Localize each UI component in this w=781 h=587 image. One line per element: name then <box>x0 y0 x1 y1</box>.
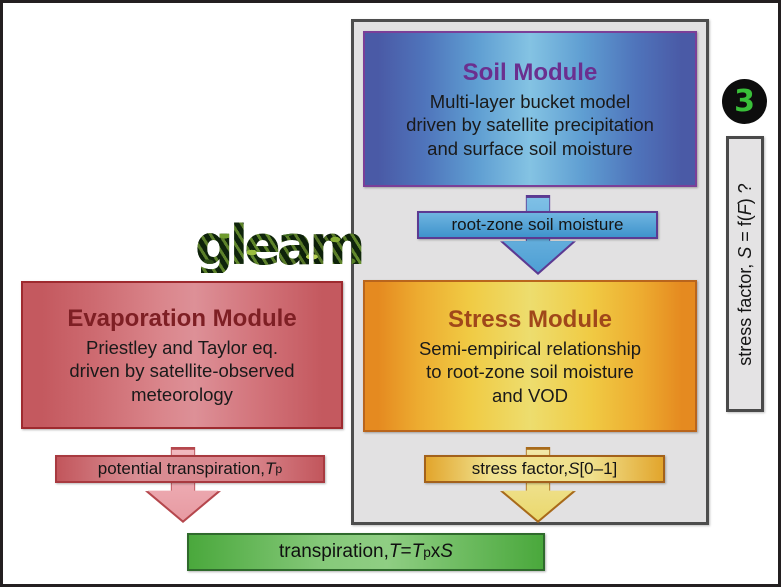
evaporation-module-line-1: Priestley and Taylor eq. <box>80 336 284 360</box>
stress-factor-label: stress factor, S [0–1] <box>424 455 665 483</box>
soil-module-line-3: and surface soil moisture <box>421 137 639 161</box>
potential-label-symbol: T <box>265 459 275 479</box>
badge-number: 3 <box>734 87 755 117</box>
evaporation-module-line-3: meteorology <box>125 383 239 407</box>
diagram-canvas: Soil Module Multi-layer bucket model dri… <box>0 0 781 587</box>
stress-module-box: Stress Module Semi-empirical relationshi… <box>363 280 697 432</box>
result-equals: = <box>400 541 411 563</box>
question-prefix: stress factor, <box>735 258 755 365</box>
potential-label-subscript: p <box>275 462 282 476</box>
question-symbol-s: S <box>735 246 755 258</box>
question-suffix: ) ? <box>735 183 755 204</box>
stress-label-range: [0–1] <box>579 459 617 479</box>
evaporation-module-line-2: driven by satellite-observed <box>63 359 300 383</box>
evaporation-module-title: Evaporation Module <box>67 304 296 334</box>
potential-label-prefix: potential transpiration, <box>98 459 265 479</box>
question-text: stress factor, S = f(F) ? <box>735 183 756 366</box>
result-prefix: transpiration, <box>279 541 389 563</box>
soil-module-line-2: driven by satellite precipitation <box>400 113 660 137</box>
stress-module-line-2: to root-zone soil moisture <box>420 360 640 384</box>
soil-module-line-1: Multi-layer bucket model <box>424 90 637 114</box>
stress-label-symbol: S <box>568 459 579 479</box>
gleam-logo: gleam <box>195 219 362 273</box>
transpiration-result-box: transpiration, T = Tp x S <box>187 533 545 571</box>
question-equals: = f( <box>735 215 755 247</box>
evaporation-module-box: Evaporation Module Priestley and Taylor … <box>21 281 343 429</box>
result-symbol-s: S <box>440 541 453 563</box>
potential-transpiration-label: potential transpiration, Tp <box>55 455 325 483</box>
stress-factor-question-panel: stress factor, S = f(F) ? <box>726 136 764 412</box>
result-times: x <box>431 541 441 563</box>
step-number-badge: 3 <box>722 79 767 124</box>
stress-module-line-1: Semi-empirical relationship <box>413 337 647 361</box>
stress-module-title: Stress Module <box>448 305 612 335</box>
root-zone-soil-moisture-label: root-zone soil moisture <box>417 211 658 239</box>
result-symbol-tp: T <box>412 541 424 563</box>
stress-label-prefix: stress factor, <box>472 459 568 479</box>
stress-module-line-3: and VOD <box>486 384 574 408</box>
question-symbol-f: F <box>735 204 755 215</box>
result-subscript-p: p <box>423 545 431 560</box>
result-symbol-t: T <box>389 541 401 563</box>
soil-module-box: Soil Module Multi-layer bucket model dri… <box>363 31 697 187</box>
root-zone-label-text: root-zone soil moisture <box>452 215 624 235</box>
soil-module-title: Soil Module <box>463 58 598 88</box>
